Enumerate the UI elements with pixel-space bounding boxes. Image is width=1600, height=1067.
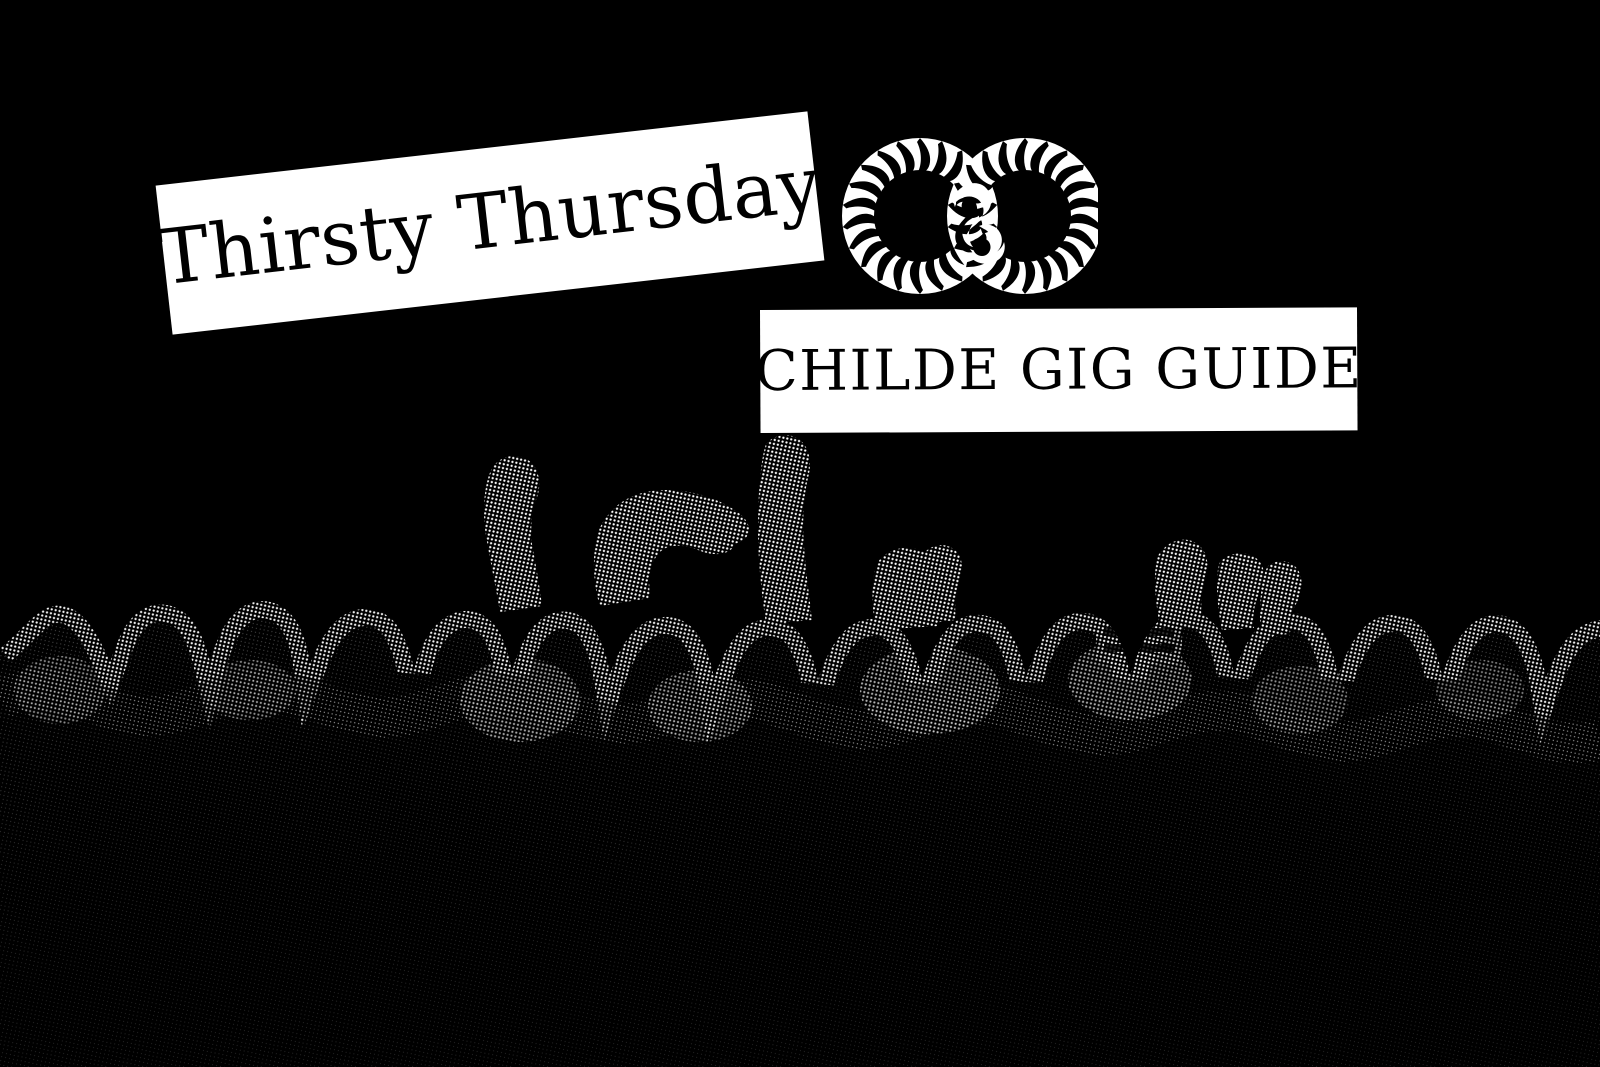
banner-childe-gig-guide: CHILDE GIG GUIDE [760, 307, 1358, 433]
poster-canvas: Thirsty Thursday CHILDE GIG GUIDE [0, 0, 1600, 1067]
banner-childe-gig-guide-label: CHILDE GIG GUIDE [755, 341, 1363, 400]
childe-double-ring-logo [828, 130, 1098, 302]
